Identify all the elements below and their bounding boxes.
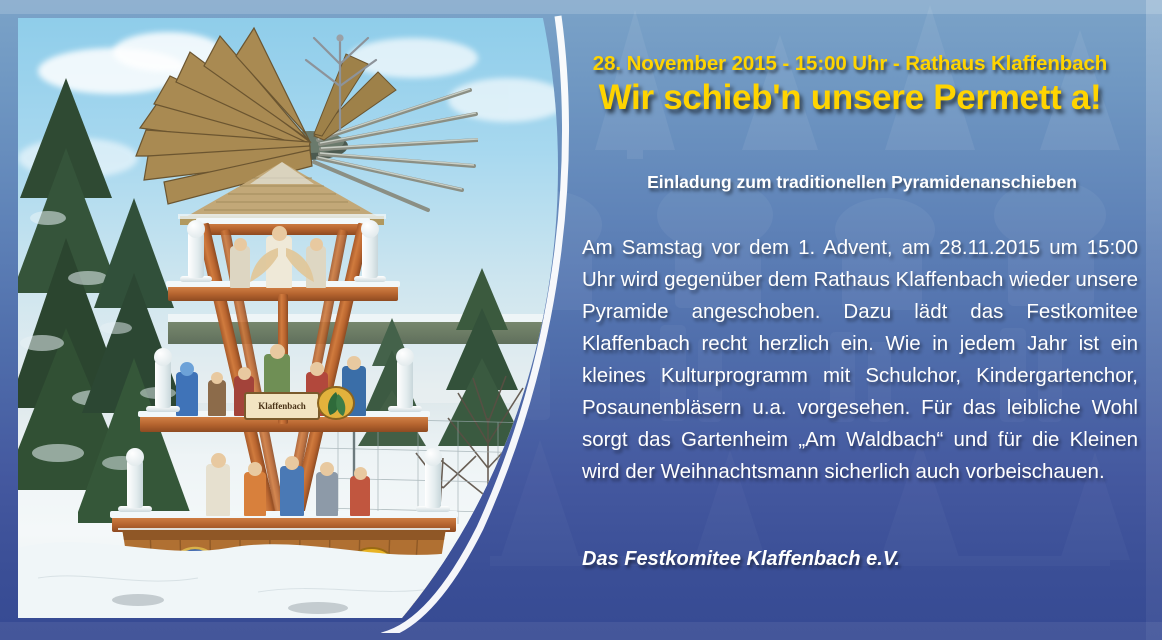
photo-clip-region: Klaffenbach — [18, 18, 578, 618]
foreground-snow — [18, 508, 578, 618]
pyramid-figure-head — [270, 344, 285, 359]
pyramid-figure-head — [310, 362, 324, 376]
pyramid-figure-head — [211, 372, 223, 384]
winter-pyramid-photo: Klaffenbach — [18, 18, 578, 618]
poster-subtitle: Einladung zum traditionellen Pyramidenan… — [584, 172, 1140, 193]
pyramid-figure-head — [272, 226, 287, 241]
text-column: 28. November 2015 - 15:00 Uhr - Rathaus … — [560, 0, 1140, 640]
pyramid-figure-head — [354, 467, 367, 480]
candle-top — [187, 220, 205, 238]
poster-body-text: Am Samstag vor dem 1. Advent, am 28.11.2… — [582, 232, 1138, 488]
pyramid-figure-head — [285, 456, 299, 470]
candle-top — [154, 348, 172, 366]
candle-top — [396, 348, 414, 366]
candle-top — [361, 220, 379, 238]
candle — [362, 232, 378, 278]
pyramid-village-sign: Klaffenbach — [244, 392, 320, 420]
photo-content: Klaffenbach — [18, 18, 578, 618]
poster-flyer: Klaffenbach — [0, 0, 1162, 640]
candle — [425, 460, 441, 508]
pyramid-figure-head — [180, 362, 194, 376]
pyramid-figure-head — [248, 462, 262, 476]
candle — [155, 360, 171, 408]
candle-top — [424, 448, 442, 466]
event-date-line: 28. November 2015 - 15:00 Uhr - Rathaus … — [560, 52, 1140, 76]
pyramid-figure-head — [320, 462, 334, 476]
pyramid-figure — [208, 380, 226, 416]
candle — [127, 460, 143, 508]
pyramid-village-sign-label: Klaffenbach — [258, 401, 306, 411]
pyramid-figure-head — [238, 367, 251, 380]
pyramid-figure-head — [211, 453, 226, 468]
candle — [397, 360, 413, 408]
angel-wings — [244, 242, 320, 286]
poster-signature: Das Festkomitee Klaffenbach e.V. — [582, 548, 1138, 571]
pyramid-figure-head — [347, 356, 361, 370]
wreath-emblem — [316, 386, 356, 420]
snow-cap — [196, 218, 370, 224]
candle-top — [126, 448, 144, 466]
poster-headline: Wir schieb'n unsere Permett a! — [560, 78, 1140, 118]
candle — [188, 232, 204, 278]
